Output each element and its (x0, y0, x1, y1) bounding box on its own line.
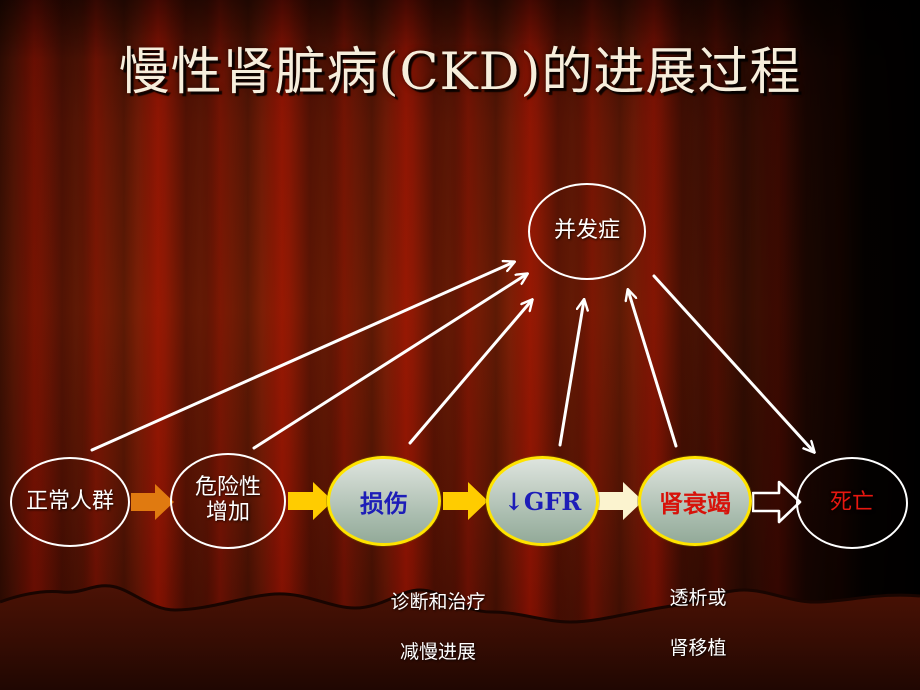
node-kidney-failure[interactable]: 肾衰竭 (638, 456, 752, 546)
caption-dialysis-transplant-line2: 肾移植 (669, 637, 726, 659)
node-normal-population[interactable]: 正常人群 (10, 457, 130, 547)
connector-gfr-decline-to-complication (560, 300, 584, 445)
node-increased-risk[interactable]: 危险性 增加 (170, 453, 286, 549)
block-arrow-injury-to-gfr (443, 480, 489, 522)
caption-dialysis-transplant-line1: 透析或 (669, 587, 726, 609)
block-arrow-normal-to-risk (131, 482, 175, 522)
caption-diagnosis-treatment-line2: 减慢进展 (400, 641, 476, 663)
node-death-label: 死亡 (798, 491, 906, 516)
connector-kidney-failure-to-complication (628, 290, 676, 446)
node-increased-risk-line1: 危险性 (195, 475, 261, 500)
node-increased-risk-line2: 增加 (206, 500, 250, 525)
node-increased-risk-label: 危险性 增加 (172, 476, 284, 525)
node-gfr-decline-label: ↓GFR (489, 487, 596, 516)
caption-dialysis-transplant: 透析或 肾移植 (618, 561, 778, 661)
node-injury[interactable]: 损伤 (327, 456, 441, 546)
connector-complication-to-death (654, 276, 814, 452)
caption-diagnosis-treatment: 诊断和治疗 减慢进展 (338, 565, 538, 665)
caption-diagnosis-treatment-line1: 诊断和治疗 (390, 591, 485, 613)
node-gfr-decline[interactable]: ↓GFR (486, 456, 599, 546)
node-kidney-failure-label: 肾衰竭 (641, 484, 749, 519)
node-complication-label: 并发症 (530, 219, 644, 244)
block-arrow-failure-to-death (752, 479, 802, 525)
connector-injury-to-complication (410, 300, 532, 443)
slide-canvas: 慢性肾脏病(CKD)的进展过程 并发症 (0, 0, 920, 690)
node-normal-population-label: 正常人群 (12, 490, 128, 515)
node-complication[interactable]: 并发症 (528, 183, 646, 280)
node-injury-label: 损伤 (330, 484, 438, 519)
connector-normal-population-to-complication (92, 262, 514, 450)
node-death[interactable]: 死亡 (796, 457, 908, 549)
